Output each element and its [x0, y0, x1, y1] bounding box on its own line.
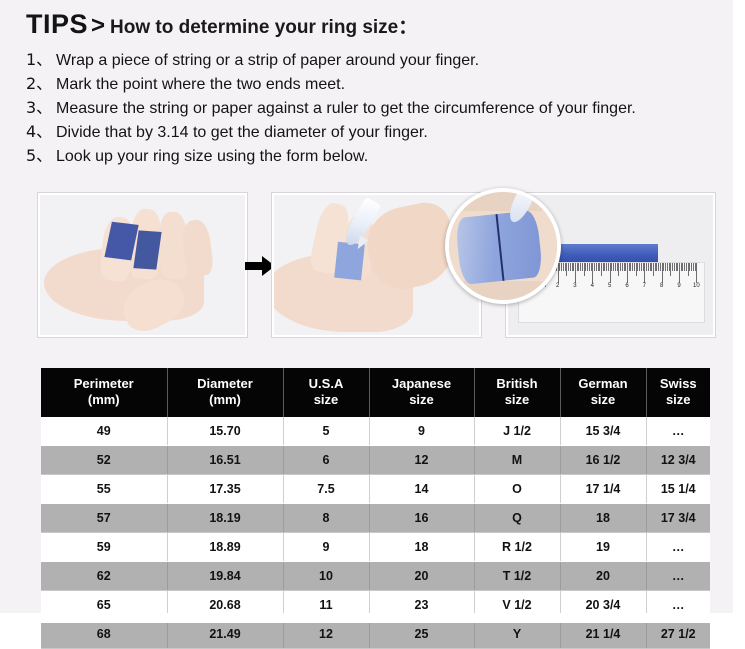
table-cell-0: 59 [41, 532, 167, 561]
table-cell-6: … [646, 532, 710, 561]
table-cell-5: 19 [560, 532, 646, 561]
step-text: Measure the string or paper against a ru… [56, 100, 636, 118]
magnifier-inset [445, 188, 561, 304]
table-cell-4: Y [474, 619, 560, 648]
step-text: Wrap a piece of string or a strip of pap… [56, 52, 479, 70]
table-cell-4: J 1/2 [474, 417, 560, 446]
table-cell-3: 14 [369, 474, 474, 503]
column-header-1: Diameter(mm) [167, 368, 283, 417]
table-cell-1: 17.35 [167, 474, 283, 503]
table-row: 5517.357.514O17 1/415 1/4 [41, 474, 710, 503]
table-cell-5: 18 [560, 503, 646, 532]
column-header-0: Perimeter(mm) [41, 368, 167, 417]
table-cell-5: 17 1/4 [560, 474, 646, 503]
table-cell-2: 5 [283, 417, 369, 446]
ruler-label: 6 [625, 283, 628, 289]
table-row: 6219.841020T 1/220… [41, 561, 710, 590]
table-row: 5718.19816Q1817 3/4 [41, 503, 710, 532]
step-text: Mark the point where the two ends meet. [56, 76, 345, 94]
table-cell-6: 15 1/4 [646, 474, 710, 503]
ruler-label: 5 [608, 283, 611, 289]
list-item: 2、 Mark the point where the two ends mee… [26, 70, 636, 94]
page-title: TIPS>How to determine your ring size： [26, 9, 417, 40]
table-cell-0: 68 [41, 619, 167, 648]
table-cell-2: 12 [283, 619, 369, 648]
column-header-2: U.S.Asize [283, 368, 369, 417]
table-cell-5: 21 1/4 [560, 619, 646, 648]
ring-size-guide-page: TIPS>How to determine your ring size： 1、… [0, 0, 745, 623]
ruler-label: 8 [660, 283, 663, 289]
table-cell-3: 18 [369, 532, 474, 561]
page-edge-right [733, 0, 745, 623]
table-cell-5: 20 [560, 561, 646, 590]
step-number: 1、 [26, 46, 56, 70]
table-cell-4: T 1/2 [474, 561, 560, 590]
table-cell-1: 18.89 [167, 532, 283, 561]
column-header-5: Germansize [560, 368, 646, 417]
ring-size-table-wrap: Perimeter(mm)Diameter(mm)U.S.AsizeJapane… [41, 368, 710, 649]
ring-size-table: Perimeter(mm)Diameter(mm)U.S.AsizeJapane… [41, 368, 710, 649]
list-item: 4、 Divide that by 3.14 to get the diamet… [26, 118, 636, 142]
table-cell-0: 55 [41, 474, 167, 503]
table-cell-1: 15.70 [167, 417, 283, 446]
page-subtitle: How to determine your ring size： [110, 17, 417, 38]
table-row: 5918.89918R 1/219… [41, 532, 710, 561]
illustration-row: 01cm2345678910 [0, 193, 745, 338]
table-cell-3: 25 [369, 619, 474, 648]
table-header-row: Perimeter(mm)Diameter(mm)U.S.AsizeJapane… [41, 368, 710, 417]
table-cell-6: … [646, 417, 710, 446]
table-cell-2: 8 [283, 503, 369, 532]
table-cell-6: 27 1/2 [646, 619, 710, 648]
ruler-label: 7 [643, 283, 646, 289]
list-item: 3、 Measure the string or paper against a… [26, 94, 636, 118]
table-cell-4: R 1/2 [474, 532, 560, 561]
photo-panel-wrap-finger [38, 193, 247, 337]
table-cell-1: 19.84 [167, 561, 283, 590]
table-cell-4: Q [474, 503, 560, 532]
list-item: 5、 Look up your ring size using the form… [26, 142, 636, 166]
table-cell-0: 52 [41, 445, 167, 474]
table-cell-4: O [474, 474, 560, 503]
table-cell-2: 7.5 [283, 474, 369, 503]
table-cell-0: 57 [41, 503, 167, 532]
ruler-label: 9 [677, 283, 680, 289]
table-cell-0: 49 [41, 417, 167, 446]
ruler-label: 4 [591, 283, 594, 289]
step-text: Divide that by 3.14 to get the diameter … [56, 124, 428, 142]
table-cell-6: … [646, 561, 710, 590]
column-header-3: Japanesesize [369, 368, 474, 417]
table-cell-0: 62 [41, 561, 167, 590]
table-cell-2: 9 [283, 532, 369, 561]
ruler-label: 3 [573, 283, 576, 289]
table-row: 5216.51612M16 1/212 3/4 [41, 445, 710, 474]
table-cell-5: 15 3/4 [560, 417, 646, 446]
table-cell-3: 20 [369, 561, 474, 590]
column-header-4: Britishsize [474, 368, 560, 417]
table-cell-5: 16 1/2 [560, 445, 646, 474]
step-text: Look up your ring size using the form be… [56, 148, 368, 166]
table-cell-1: 16.51 [167, 445, 283, 474]
table-cell-3: 9 [369, 417, 474, 446]
table-cell-2: 10 [283, 561, 369, 590]
table-cell-6: 17 3/4 [646, 503, 710, 532]
table-cell-4: M [474, 445, 560, 474]
table-cell-1: 21.49 [167, 619, 283, 648]
table-cell-1: 18.19 [167, 503, 283, 532]
page-edge-bottom [0, 613, 745, 623]
table-cell-3: 16 [369, 503, 474, 532]
table-row: 4915.7059J 1/215 3/4… [41, 417, 710, 446]
table-cell-6: 12 3/4 [646, 445, 710, 474]
column-header-6: Swisssize [646, 368, 710, 417]
step-number: 4、 [26, 118, 56, 142]
step-number: 3、 [26, 94, 56, 118]
ruler-label: 10 [693, 283, 700, 289]
tips-label: TIPS [26, 9, 88, 39]
step-number: 5、 [26, 142, 56, 166]
table-row: 6821.491225Y21 1/427 1/2 [41, 619, 710, 648]
list-item: 1、 Wrap a piece of string or a strip of … [26, 46, 636, 70]
table-cell-3: 12 [369, 445, 474, 474]
chevron-right-icon: > [91, 12, 105, 39]
step-number: 2、 [26, 70, 56, 94]
table-cell-2: 6 [283, 445, 369, 474]
steps-list: 1、 Wrap a piece of string or a strip of … [26, 46, 636, 166]
